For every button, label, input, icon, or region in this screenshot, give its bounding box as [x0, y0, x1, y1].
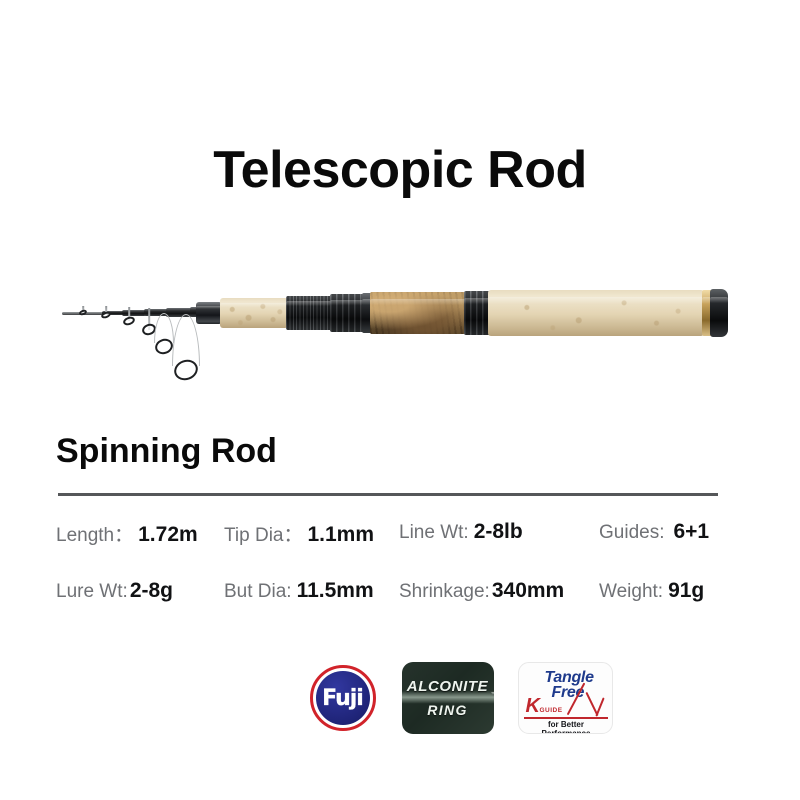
- spec-butt-dia: But Dia: 11.5mm: [224, 579, 399, 603]
- rod-butt-cap: [710, 289, 728, 337]
- spec-shrinkage: Shrinkage: 340mm: [399, 579, 599, 603]
- rod-rear-grip-cork: [488, 290, 704, 336]
- alconite-ring-label: RING: [427, 702, 468, 718]
- spec-value: 6+1: [673, 520, 709, 544]
- page-title: Telescopic Rod: [0, 140, 800, 200]
- alconite-wordmark: ALCONITE™: [407, 678, 488, 695]
- rod-reel-seat-lower-collar: [464, 291, 490, 335]
- spec-label: Length：: [56, 520, 133, 547]
- tangle-free-tagline: for Better Performance: [524, 720, 609, 734]
- rod-reel-seat-collar: [330, 294, 364, 332]
- spec-value: 91g: [668, 579, 704, 603]
- fuji-logo-icon: Fuji: [308, 663, 378, 733]
- spec-line-weight: Line Wt: 2-8lb: [399, 520, 599, 547]
- k-letter: K: [526, 696, 540, 716]
- spec-label: Lure Wt:: [56, 581, 128, 603]
- spec-length: Length： 1.72m: [56, 520, 224, 547]
- fishing-rod-illustration: [0, 262, 800, 412]
- spec-value: 340mm: [492, 579, 564, 603]
- spec-tip-dia: Tip Dia： 1.1mm: [224, 520, 399, 547]
- spec-value: 2-8g: [130, 579, 173, 603]
- spec-value: 11.5mm: [297, 579, 374, 603]
- brand-badges: Fuji ALCONITE™ RING Tangle Free K GUIDE …: [0, 652, 800, 744]
- spec-label: Shrinkage:: [399, 581, 490, 603]
- rod-foregrip-cork: [220, 298, 288, 328]
- spec-value: 1.72m: [138, 523, 198, 547]
- rod-reel-seat-threaded-nut: [286, 296, 332, 330]
- spec-weight: Weight: 91g: [599, 579, 736, 603]
- trademark-icon: ™: [491, 692, 494, 698]
- section-divider: [58, 493, 718, 496]
- spec-label: Line Wt:: [399, 522, 469, 544]
- specifications-grid: Length： 1.72m Tip Dia： 1.1mm Line Wt: 2-…: [56, 520, 736, 603]
- fuji-wordmark: Fuji: [322, 686, 363, 711]
- tangle-free-k-guide-logo-icon: Tangle Free K GUIDE for Better Performan…: [518, 662, 613, 734]
- product-image-page: Telescopic Rod: [0, 0, 800, 800]
- rod-tip-segment: [122, 310, 146, 316]
- spec-lure-weight: Lure Wt: 2-8g: [56, 579, 224, 603]
- product-subtitle: Spinning Rod: [56, 432, 277, 471]
- spec-value: 2-8lb: [474, 520, 523, 544]
- rod-blank-lower: [196, 302, 222, 324]
- spec-label: But Dia:: [224, 581, 292, 603]
- spec-guides: Guides: 6+1: [599, 520, 736, 547]
- spec-label: Tip Dia：: [224, 520, 302, 547]
- spec-label: Guides:: [599, 522, 664, 544]
- alconite-ring-logo-icon: ALCONITE™ RING: [402, 662, 494, 734]
- rod-reel-seat-burl-insert: [370, 292, 466, 334]
- red-stroke-icon: [595, 697, 604, 716]
- guide-label: GUIDE: [540, 707, 563, 714]
- red-underline: [524, 717, 608, 719]
- spec-label: Weight:: [599, 581, 663, 603]
- spec-value: 1.1mm: [307, 523, 374, 547]
